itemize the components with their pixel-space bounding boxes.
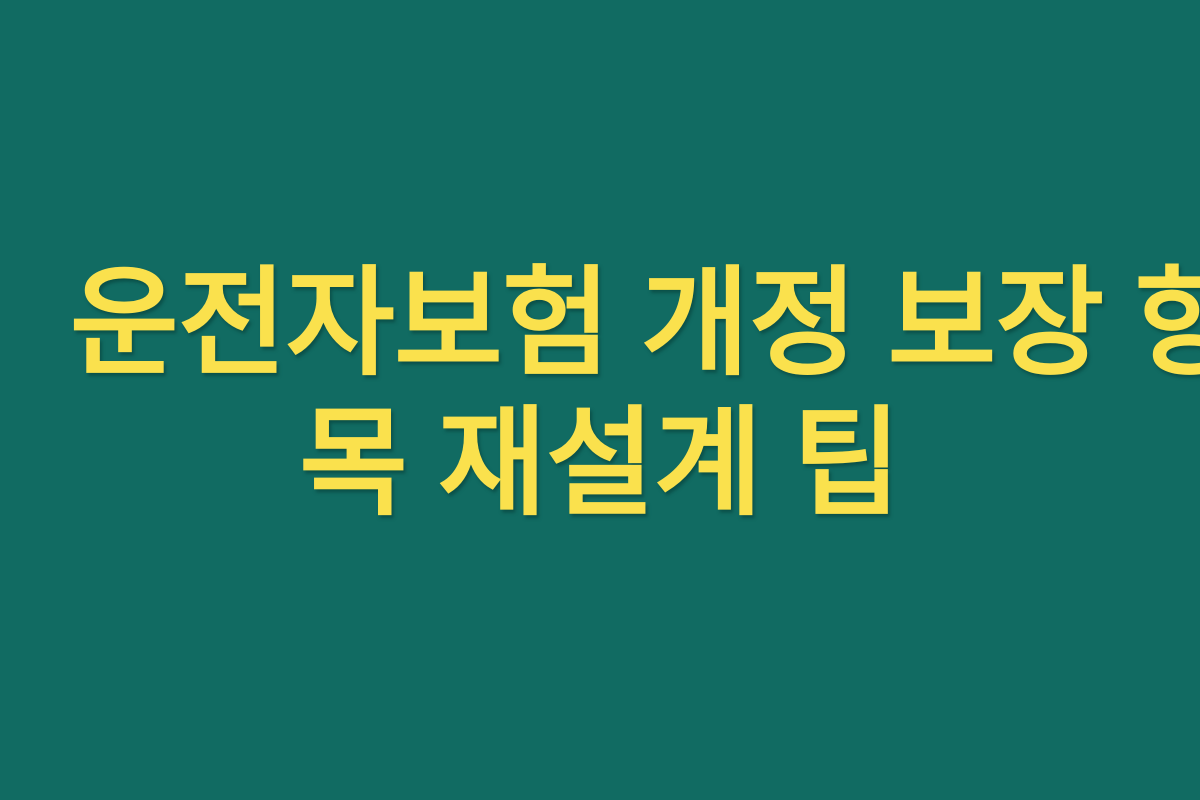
thumbnail-card: 운전자보험 개정 보장 항 목 재설계 팁 (0, 0, 1200, 800)
headline-block: 운전자보험 개정 보장 항 목 재설계 팁 (70, 253, 1130, 533)
headline-line-2: 목 재설계 팁 (70, 393, 1130, 533)
headline-line-1: 운전자보험 개정 보장 항 (70, 253, 1130, 393)
